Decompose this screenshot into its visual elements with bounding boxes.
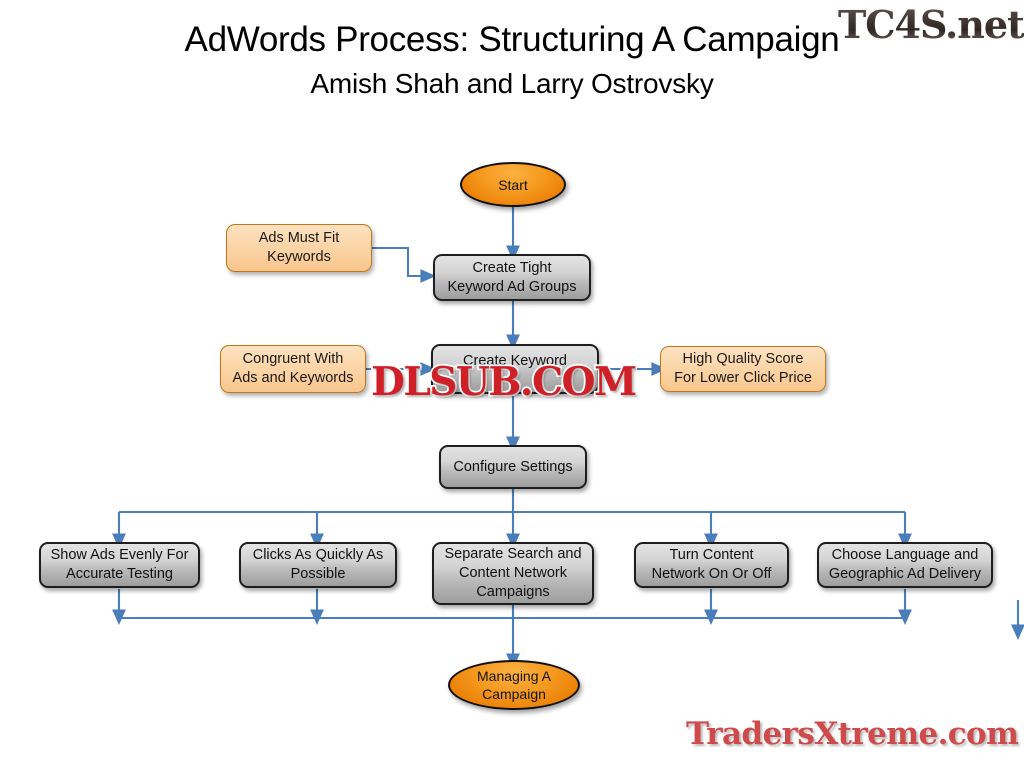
node-configure-settings-label: Configure Settings <box>441 458 585 477</box>
node-choose-language-and-geographic-ad-delivery-label: Choose Language and Geographic Ad Delive… <box>819 546 991 584</box>
node-turn-content-network-on-or-off-label: Turn Content Network On Or Off <box>636 546 787 584</box>
node-high-quality-score-label: High Quality Score For Lower Click Price <box>661 350 825 388</box>
node-create-tight-keyword-ad-groups-label: Create Tight Keyword Ad Groups <box>435 259 589 297</box>
node-ads-must-fit-keywords-label: Ads Must Fit Keywords <box>227 229 371 267</box>
node-choose-language-and-geographic-ad-delivery[interactable]: Choose Language and Geographic Ad Delive… <box>817 542 993 588</box>
node-managing-a-campaign[interactable]: Managing A Campaign <box>448 660 580 710</box>
node-congruent-with-ads-and-keywords-label: Congruent With Ads and Keywords <box>221 350 365 388</box>
node-start[interactable]: Start <box>460 162 566 207</box>
node-show-ads-evenly-label: Show Ads Evenly For Accurate Testing <box>41 546 198 584</box>
node-congruent-with-ads-and-keywords[interactable]: Congruent With Ads and Keywords <box>220 345 366 393</box>
node-ads-must-fit-keywords[interactable]: Ads Must Fit Keywords <box>226 224 372 272</box>
node-clicks-as-quickly-as-possible[interactable]: Clicks As Quickly As Possible <box>239 542 397 588</box>
node-create-keyword-label: Create Keyword <box>433 352 597 371</box>
node-create-tight-keyword-ad-groups[interactable]: Create Tight Keyword Ad Groups <box>433 254 591 301</box>
node-managing-a-campaign-label: Managing A Campaign <box>450 667 578 703</box>
node-clicks-as-quickly-as-possible-label: Clicks As Quickly As Possible <box>241 546 395 584</box>
node-create-keyword[interactable]: Create Keyword <box>431 344 599 394</box>
flowchart: Start Ads Must Fit Keywords Create Tight… <box>0 0 1024 768</box>
node-configure-settings[interactable]: Configure Settings <box>439 445 587 489</box>
node-turn-content-network-on-or-off[interactable]: Turn Content Network On Or Off <box>634 542 789 588</box>
node-high-quality-score[interactable]: High Quality Score For Lower Click Price <box>660 346 826 392</box>
node-start-label: Start <box>462 176 564 194</box>
node-separate-search-and-content-network[interactable]: Separate Search and Content Network Camp… <box>432 542 594 605</box>
node-show-ads-evenly[interactable]: Show Ads Evenly For Accurate Testing <box>39 542 200 588</box>
node-separate-search-and-content-network-label: Separate Search and Content Network Camp… <box>434 545 592 602</box>
